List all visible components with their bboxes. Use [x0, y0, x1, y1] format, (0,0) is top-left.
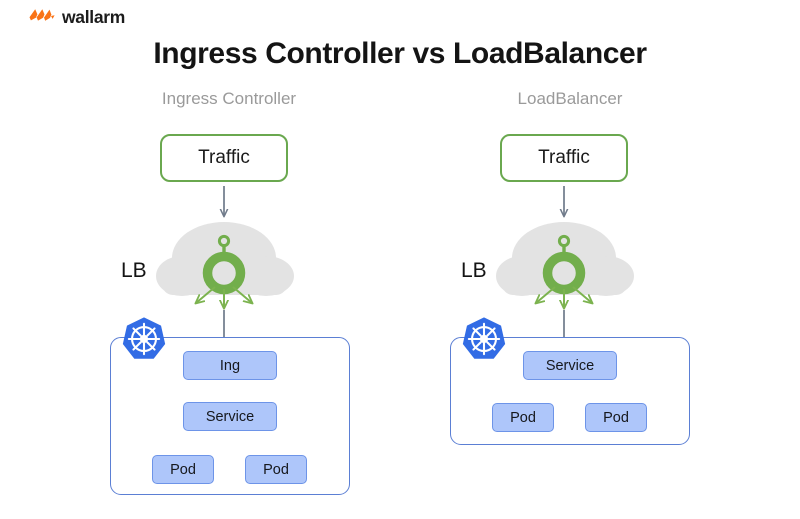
- brand-logo[interactable]: wallarm: [29, 8, 125, 28]
- node-label: Service: [546, 358, 594, 374]
- cloud-icon: [156, 222, 294, 296]
- load-balancer-icon: [536, 236, 592, 308]
- page-title: Ingress Controller vs LoadBalancer: [0, 37, 800, 71]
- node-label: Pod: [263, 462, 289, 478]
- kubernetes-icon: [121, 316, 167, 362]
- node-label: Pod: [170, 462, 196, 478]
- lb-label-loadbalancer: LB: [461, 259, 487, 283]
- node-label: Service: [206, 409, 254, 425]
- traffic-label: Traffic: [198, 147, 250, 169]
- node-service: Service: [523, 351, 617, 380]
- lb-label-ingress-controller: LB: [121, 259, 147, 283]
- node-pod: Pod: [585, 403, 647, 432]
- node-ingress: Ing: [183, 351, 277, 380]
- column-title-loadbalancer: LoadBalancer: [420, 89, 720, 109]
- traffic-box-ingress-controller: Traffic: [160, 134, 288, 182]
- wallarm-lightning-mark-icon: [29, 8, 55, 28]
- node-label: Pod: [603, 410, 629, 426]
- load-balancer-icon: [196, 236, 252, 308]
- traffic-box-loadbalancer: Traffic: [500, 134, 628, 182]
- node-label: Pod: [510, 410, 536, 426]
- node-service: Service: [183, 402, 277, 431]
- kubernetes-icon: [461, 316, 507, 362]
- column-title-ingress-controller: Ingress Controller: [79, 89, 379, 109]
- node-pod: Pod: [245, 455, 307, 484]
- brand-wordmark: wallarm: [62, 9, 125, 27]
- cloud-icon: [496, 222, 634, 296]
- node-pod: Pod: [492, 403, 554, 432]
- node-label: Ing: [220, 358, 240, 374]
- node-pod: Pod: [152, 455, 214, 484]
- traffic-label: Traffic: [538, 147, 590, 169]
